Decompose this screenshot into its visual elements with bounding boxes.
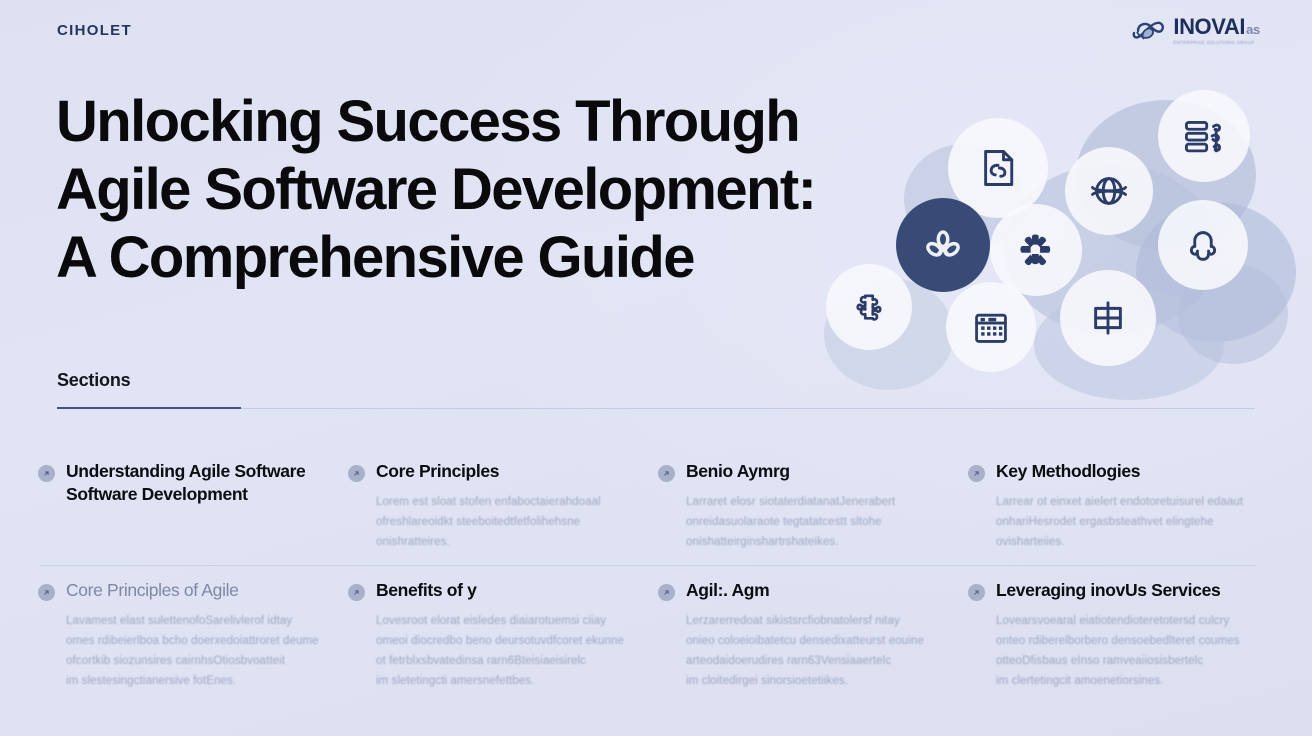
section-card-text-line: im clertetingcit amoenetiorsines. (996, 671, 1254, 691)
section-card-text: Lavamest elast sulettenofoSarelivlerof i… (66, 611, 324, 691)
top-bar: CIHOLET INOVAI as ENTERPRISE SOLUTIONS G… (0, 0, 1312, 62)
sections-row-bottom: Core Principles of Agile Lavamest elast … (38, 566, 1278, 691)
logo-tagline: ENTERPRISE SOLUTIONS GROUP (1173, 41, 1260, 45)
section-card[interactable]: Core Principles of Agile Lavamest elast … (38, 566, 348, 691)
section-card-text-line: onteo rdiberelborbero densoebedlteret co… (996, 631, 1254, 651)
section-card-text-line: ot fetrblxsbvatedinsa rarn6Bteisiaeisire… (376, 651, 634, 671)
title-line-2: Agile Software Development: (56, 156, 846, 224)
bubble-globe (1065, 147, 1153, 235)
title-line-3: A Comprehensive Guide (56, 224, 846, 292)
section-card-title: Core Principles of Agile (66, 579, 324, 602)
logo-suffix: as (1246, 23, 1260, 36)
bubble-puzzle (826, 264, 912, 350)
section-card[interactable]: Leveraging inovUs Services Lovearsvoeara… (968, 566, 1278, 691)
sections-heading: Sections (57, 370, 130, 391)
section-card-text-line: Lorem est sloat stofen enfaboctaierahdoa… (376, 492, 634, 512)
table-grid-icon (1086, 296, 1130, 340)
infinity-loop-logo-icon (1132, 16, 1166, 46)
section-card[interactable]: Core Principles Lorem est sloat stofen e… (348, 447, 658, 565)
sections-row-top: Understanding Agile Software Software De… (38, 447, 1278, 565)
section-card-text-line: arteodaidoerudires rarn63Vensiaaertelc (686, 651, 944, 671)
sections-grid: Understanding Agile Software Software De… (38, 447, 1278, 691)
section-card-text-line: Lerzarerredoat sikistsrcfiobnatolersf ni… (686, 611, 944, 631)
section-card-title: Benefits of y (376, 579, 634, 602)
logo-wordmark: INOVAI (1173, 16, 1245, 38)
bubble-server (1158, 90, 1250, 182)
arrow-up-right-circle-icon (38, 584, 55, 601)
section-card-text-line: Larrear ot einxet aielert endotoretuisur… (996, 492, 1254, 512)
section-card-text: Larraret elosr siotaterdiatanatJeneraber… (686, 492, 944, 552)
bubble-table (1060, 270, 1156, 366)
section-card-title: Benio Aymrg (686, 460, 944, 483)
arrow-up-right-circle-icon (968, 584, 985, 601)
section-card-text-line: Lovearsvoearal eiatiotendioteretotersd c… (996, 611, 1254, 631)
brand-label-left: CIHOLET (57, 22, 132, 39)
section-card-text-line: ofreshlareoidkt steeboitedtfetfolihehsne (376, 512, 634, 532)
sections-divider-accent (57, 407, 241, 409)
bubble-person (1158, 200, 1248, 290)
section-card-text-line: onhariHesrodet ergasbsteathvet elingtehe (996, 512, 1254, 532)
bubble-calendar (946, 282, 1036, 372)
arrow-up-right-circle-icon (348, 465, 365, 482)
section-card[interactable]: Understanding Agile Software Software De… (38, 447, 348, 565)
section-card-text: Lerzarerredoat sikistsrcfiobnatolersf ni… (686, 611, 944, 691)
company-logo: INOVAI as ENTERPRISE SOLUTIONS GROUP (1132, 16, 1260, 46)
title-line-1: Unlocking Success Through (56, 88, 846, 156)
arrow-up-right-circle-icon (658, 584, 675, 601)
section-card-text: Lovearsvoearal eiatiotendioteretotersd c… (996, 611, 1254, 691)
section-card-title: Agil:. Agm (686, 579, 944, 602)
atom-molecule-icon (920, 222, 966, 268)
section-card-text-line: im cloitedirgei sinorsioetetiikes. (686, 671, 944, 691)
hero-illustration (818, 82, 1288, 392)
section-card-title: Understanding Agile Software Software De… (66, 460, 324, 506)
poster-page: CIHOLET INOVAI as ENTERPRISE SOLUTIONS G… (0, 0, 1312, 736)
section-card-title: Leveraging inovUs Services (996, 579, 1254, 602)
person-head-icon (1181, 223, 1225, 267)
document-code-icon (976, 146, 1020, 190)
section-card-text-line: Larraret elosr siotaterdiatanatJeneraber… (686, 492, 944, 512)
globe-orbit-icon (1087, 169, 1131, 213)
section-card-text-line: onishratteires. (376, 532, 634, 552)
section-card-text-line: ofcortkib siozunsires cairnhsOtiosbvoatt… (66, 651, 324, 671)
bubble-flower (990, 204, 1082, 296)
section-card-text-line: Lavamest elast sulettenofoSarelivlerof i… (66, 611, 324, 631)
section-card-text: Lovesroot elorat eisledes diaiarotuemsi … (376, 611, 634, 691)
arrow-up-right-circle-icon (38, 465, 55, 482)
section-card-text-line: ovisharteiies. (996, 532, 1254, 552)
section-card-text-line: otteoDfisbaus eInso ramveaiiosisbertelc (996, 651, 1254, 671)
section-card-title: Key Methodlogies (996, 460, 1254, 483)
arrow-up-right-circle-icon (968, 465, 985, 482)
server-rack-icon (1181, 114, 1227, 158)
section-card-text-line: im sletetingcti amersnefettbes. (376, 671, 634, 691)
arrow-up-right-circle-icon (658, 465, 675, 482)
section-card[interactable]: Benio Aymrg Larraret elosr siotaterdiata… (658, 447, 968, 565)
section-card-text-line: omes rdibeierlboa bcho doerxedoiattroret… (66, 631, 324, 651)
section-card[interactable]: Key Methodlogies Larrear ot einxet aiele… (968, 447, 1278, 565)
section-card-text-line: Lovesroot elorat eisledes diaiarotuemsi … (376, 611, 634, 631)
section-card-text-line: im slestesingctianersive fotEnes. (66, 671, 324, 691)
flower-cluster-icon (1013, 229, 1059, 271)
calendar-grid-icon (970, 306, 1012, 348)
section-card[interactable]: Benefits of y Lovesroot elorat eisledes … (348, 566, 658, 691)
section-card-text: Larrear ot einxet aielert endotoretuisur… (996, 492, 1254, 552)
puzzle-cross-icon (849, 287, 889, 327)
section-card[interactable]: Agil:. Agm Lerzarerredoat sikistsrcfiobn… (658, 566, 968, 691)
section-card-text: Lorem est sloat stofen enfaboctaierahdoa… (376, 492, 634, 552)
section-card-text-line: omeoi diocredbo beno deursotuvdfcoret ek… (376, 631, 634, 651)
page-title: Unlocking Success Through Agile Software… (56, 88, 846, 292)
section-card-text-line: onieo coloeioibatetcu densedixatteurst e… (686, 631, 944, 651)
section-card-title: Core Principles (376, 460, 634, 483)
bubble-atom (896, 198, 990, 292)
arrow-up-right-circle-icon (348, 584, 365, 601)
section-card-text-line: onreidasuolaraote tegtatatcestt sltohe (686, 512, 944, 532)
section-card-text-line: onishatteirginshartrshateikes. (686, 532, 944, 552)
